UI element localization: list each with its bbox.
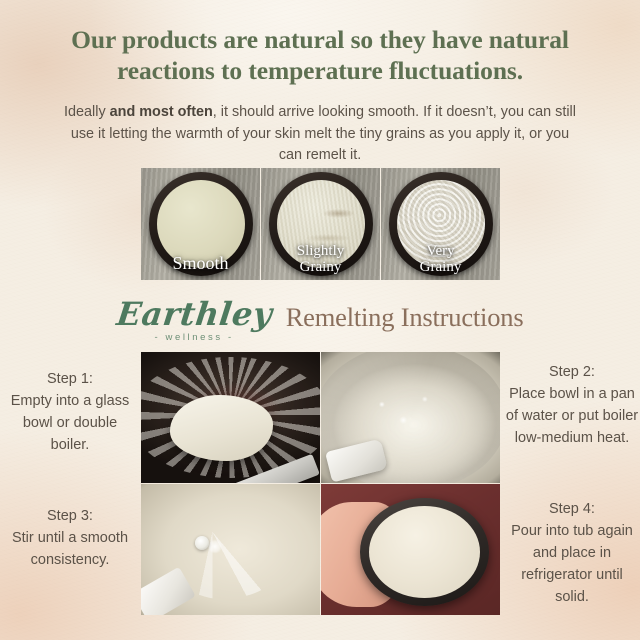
brand-and-title-row: Earthley - wellness - Remelting Instruct… [0,292,640,346]
step-4-body: Pour into tub again and place in refrige… [504,520,640,608]
step-3-label: Step 3: [2,505,138,527]
jar-comparison-strip: Smooth Slightly Grainy Very Grainy [141,168,500,280]
page-headline: Our products are natural so they have na… [44,24,596,86]
header-block: Our products are natural so they have na… [0,24,640,167]
finished-jar [360,498,489,605]
spatula-icon [226,454,320,483]
step-4-label: Step 4: [504,498,640,520]
photo-stirring-liquid [141,484,320,615]
photo-bowl-with-spatula [141,352,320,483]
step-2-label: Step 2: [504,361,640,383]
jar-photo-slightly-grainy: Slightly Grainy [261,168,380,280]
jar-label-smooth: Smooth [141,255,260,271]
earthley-logo: Earthley - wellness - [117,298,272,343]
section-title: Remelting Instructions [286,302,524,333]
brand-tagline-text: - wellness - [154,333,233,343]
photo-pot-of-cream [321,352,500,483]
remelting-instructions-infographic: Our products are natural so they have na… [0,0,640,640]
subhead-emphasis: and most often [110,104,213,120]
spatula-icon [141,567,196,615]
page-subhead: Ideally and most often, it should arrive… [58,102,582,167]
step-2-text: Step 2: Place bowl in a pan of water or … [504,361,640,449]
step-photo-grid [141,352,500,622]
jar-label-line-1: Slightly [265,243,376,259]
brand-name-text: Earthley [115,298,274,330]
step-2-body: Place bowl in a pan of water or put boil… [504,383,640,449]
subhead-text-start: Ideally [64,104,110,120]
photo-hand-holding-jar [321,484,500,615]
jar-photo-smooth: Smooth [141,168,260,280]
jar-label-slightly-grainy: Slightly Grainy [261,243,380,275]
step-1-label: Step 1: [2,368,138,390]
jar-photo-very-grainy: Very Grainy [381,168,500,280]
step-4-text: Step 4: Pour into tub again and place in… [504,498,640,608]
step-3-text: Step 3: Stir until a smooth consistency. [2,505,138,571]
spatula-icon [325,439,388,483]
jar-label-line-2: Grainy [385,259,496,275]
step-3-body: Stir until a smooth consistency. [2,527,138,571]
jar-label-very-grainy: Very Grainy [381,243,500,275]
jar-label-line-1: Very [385,243,496,259]
step-1-text: Step 1: Empty into a glass bowl or doubl… [2,368,138,456]
jar-label-line-2: Grainy [265,259,376,275]
step-1-body: Empty into a glass bowl or double boiler… [2,390,138,456]
